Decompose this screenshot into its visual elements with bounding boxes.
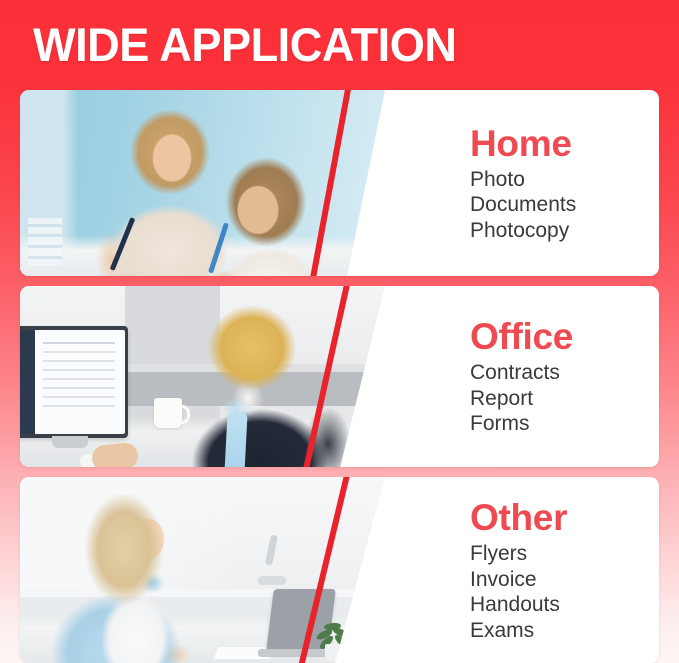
bookshelf-decor <box>28 218 62 266</box>
pen-blue-icon <box>208 222 229 273</box>
card-items-office: Contracts Report Forms <box>470 360 659 437</box>
wide-application-poster: WIDE APPLICATION Home Photo Documents Ph… <box>0 0 679 663</box>
list-item: Documents <box>470 192 659 218</box>
card-heading-home: Home <box>470 123 659 165</box>
hand-on-mouse <box>91 442 139 467</box>
list-item: Flyers <box>470 541 659 567</box>
plant-icon <box>316 619 352 661</box>
photo-office <box>20 286 385 467</box>
monitor-stand <box>52 436 88 448</box>
list-item: Contracts <box>470 360 659 386</box>
card-items-home: Photo Documents Photocopy <box>470 167 659 244</box>
list-item: Handouts <box>470 592 659 618</box>
list-item: Exams <box>470 618 659 644</box>
card-text-home: Home Photo Documents Photocopy <box>400 90 659 276</box>
pen-navy-icon <box>110 217 136 271</box>
application-card-other[interactable]: Other Flyers Invoice Handouts Exams <box>20 477 659 663</box>
list-item: Photo <box>470 167 659 193</box>
card-heading-office: Office <box>470 316 659 358</box>
page-title: WIDE APPLICATION <box>33 17 456 73</box>
monitor-screen <box>20 330 125 434</box>
coffee-mug-icon <box>154 398 182 428</box>
list-item: Forms <box>470 411 659 437</box>
application-card-home[interactable]: Home Photo Documents Photocopy <box>20 90 659 276</box>
card-text-office: Office Contracts Report Forms <box>400 286 659 467</box>
photo-other <box>20 477 385 663</box>
list-item: Report <box>470 386 659 412</box>
card-text-other: Other Flyers Invoice Handouts Exams <box>400 477 659 663</box>
application-card-office[interactable]: Office Contracts Report Forms <box>20 286 659 467</box>
microscope-icon <box>256 535 290 585</box>
card-heading-other: Other <box>470 497 659 539</box>
card-items-other: Flyers Invoice Handouts Exams <box>470 541 659 643</box>
glassware-icon <box>366 619 378 651</box>
monitor-icon <box>20 326 128 438</box>
blue-scarf <box>224 412 247 467</box>
plant-pot <box>325 644 345 661</box>
list-item: Invoice <box>470 567 659 593</box>
glassware-icon <box>350 611 364 651</box>
list-item: Photocopy <box>470 218 659 244</box>
